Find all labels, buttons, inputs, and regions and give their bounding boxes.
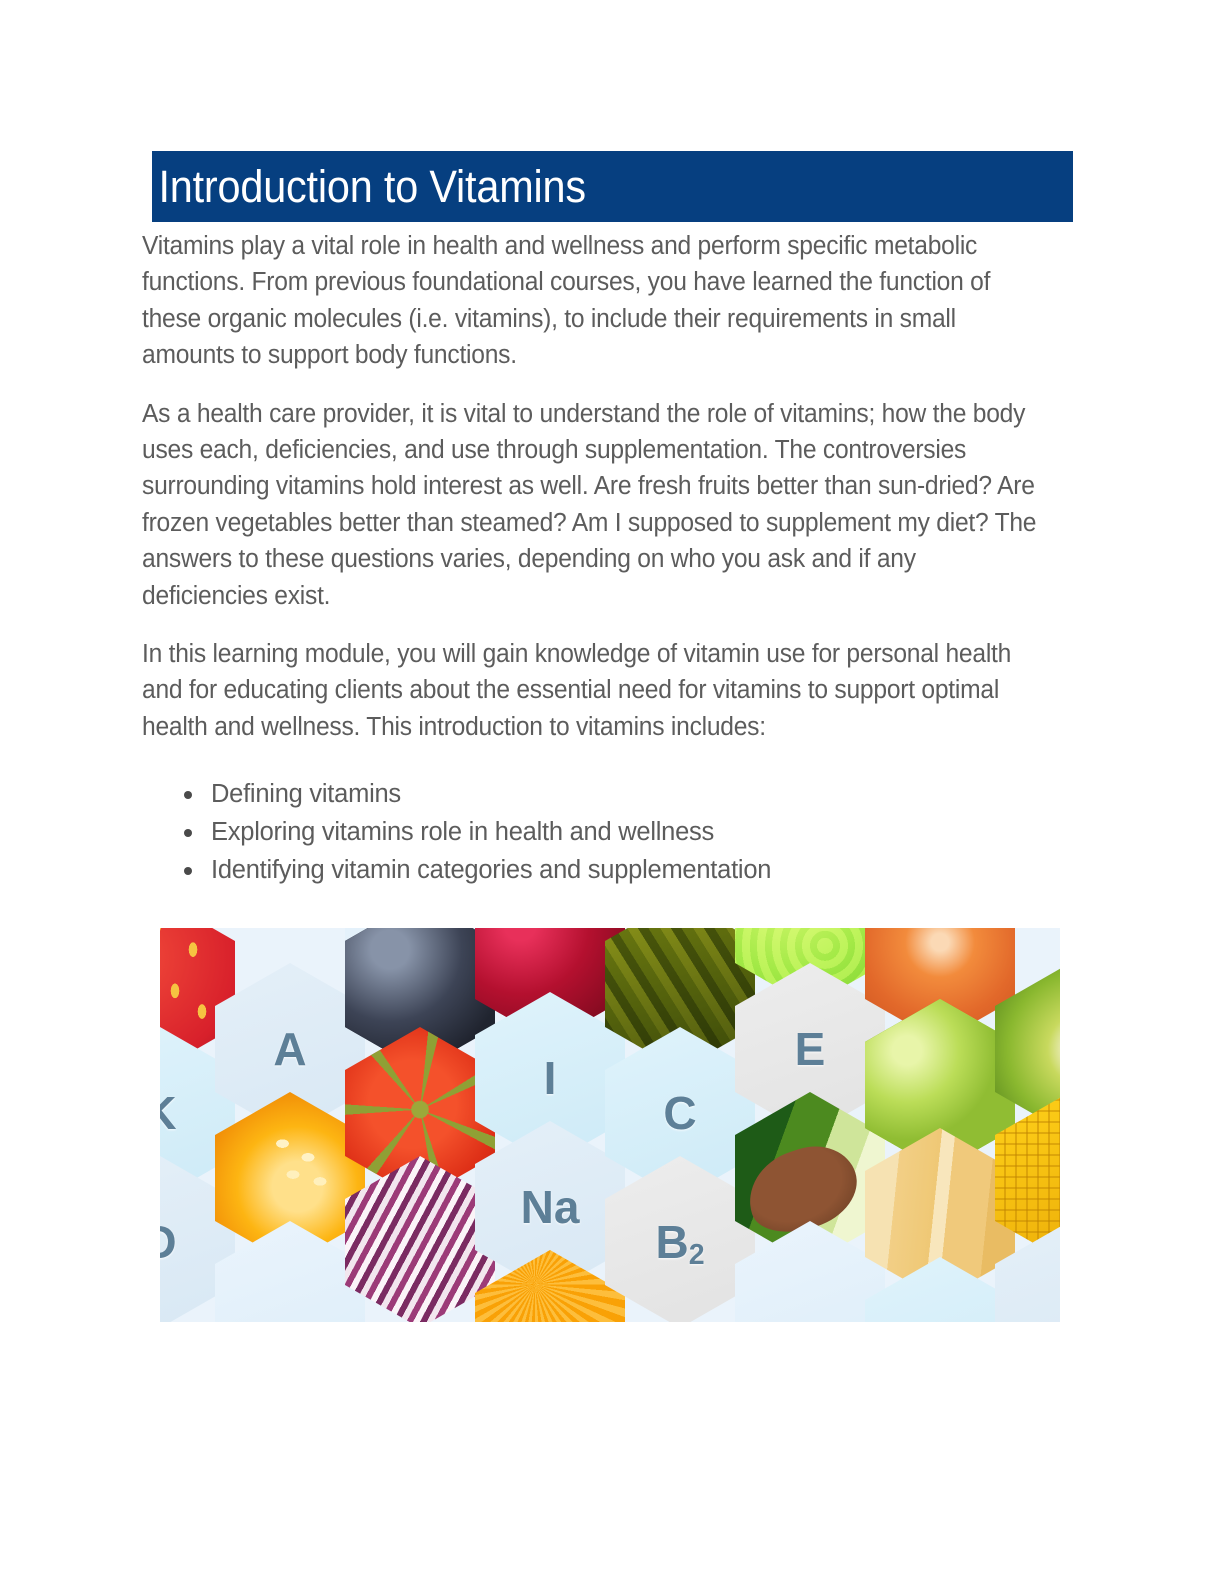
paragraph-1: Vitamins play a vital role in health and… [142, 228, 1044, 374]
document-body: Vitamins play a vital role in health and… [142, 228, 1077, 889]
list-item: Defining vitamins [211, 775, 1077, 813]
hexagon-label: C [663, 1090, 696, 1136]
page-title: Introduction to Vitamins [152, 164, 586, 209]
hexagon-pale-bottom-1 [215, 1221, 365, 1322]
hexagon-label: Na [521, 1184, 580, 1230]
list-item: Exploring vitamins role in health and we… [211, 813, 1077, 851]
module-topics-list: Defining vitamins Exploring vitamins rol… [142, 775, 1077, 889]
hexagon-label: A [273, 1026, 306, 1072]
hexagon-label: D [160, 1219, 177, 1265]
paragraph-3: In this learning module, you will gain k… [142, 636, 1044, 745]
hexagon-label: B2 [655, 1219, 704, 1265]
hexagon-red-onion [345, 1156, 495, 1322]
hexagon-letter-b2: B2 [605, 1156, 755, 1322]
page-title-banner: Introduction to Vitamins [152, 151, 1073, 222]
hexagon-label: E [795, 1026, 826, 1072]
list-item: Identifying vitamin categories and suppl… [211, 851, 1077, 889]
hexagon-pale-bottom-2 [735, 1221, 885, 1322]
document-page: Introduction to Vitamins Vitamins play a… [0, 0, 1224, 1584]
hexagon-grid: K D A I Na [160, 928, 1060, 1322]
paragraph-2: As a health care provider, it is vital t… [142, 396, 1044, 614]
hexagon-label: I [544, 1055, 557, 1101]
hexagon-label: K [160, 1090, 177, 1136]
vitamin-hexagon-collage-image: K D A I Na [160, 928, 1060, 1322]
